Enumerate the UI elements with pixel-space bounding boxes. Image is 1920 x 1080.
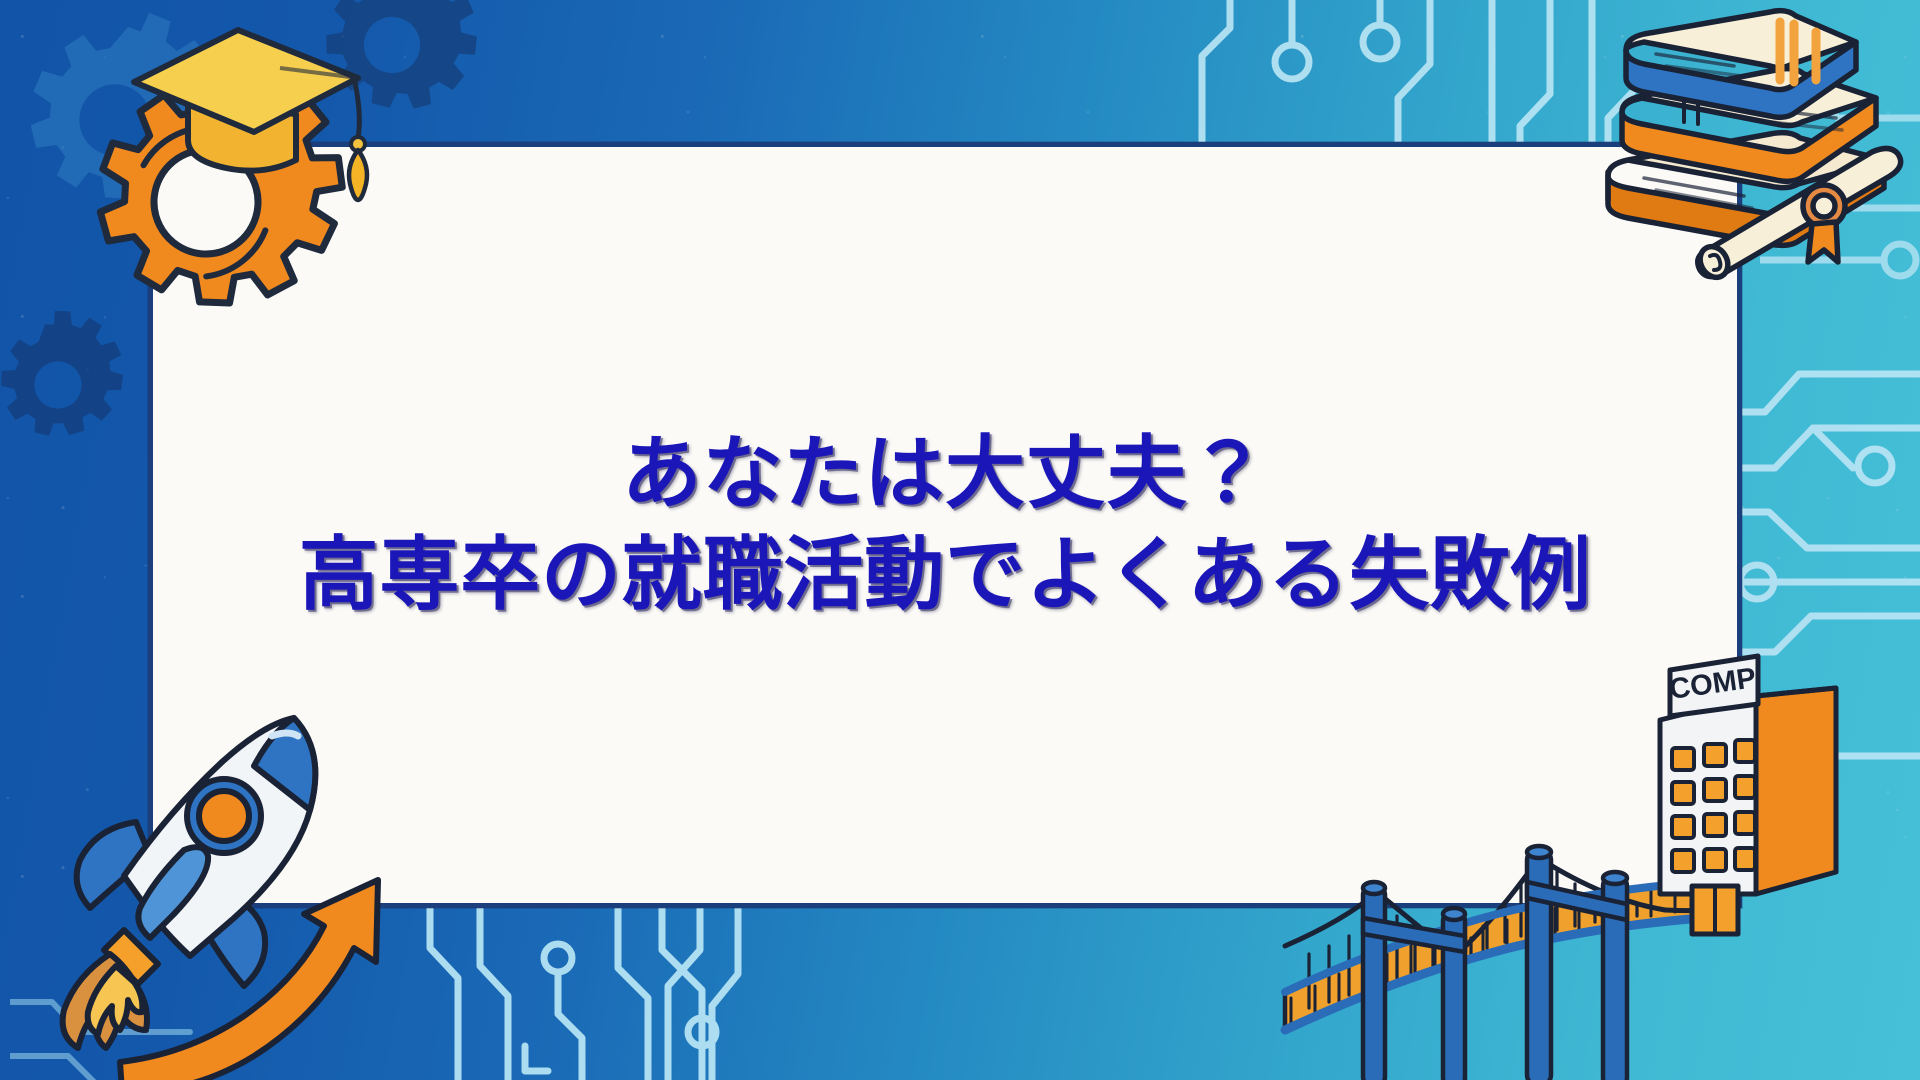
title-line-2: 高専卒の就職活動でよくある失敗例	[233, 525, 1657, 626]
thumbnail-canvas: あなたは大丈夫？ 高専卒の就職活動でよくある失敗例	[0, 0, 1920, 1080]
content-card: あなたは大丈夫？ 高専卒の就職活動でよくある失敗例	[148, 142, 1742, 908]
title-line-1: あなたは大丈夫？	[233, 424, 1657, 525]
page-title: あなたは大丈夫？ 高専卒の就職活動でよくある失敗例	[233, 424, 1657, 626]
